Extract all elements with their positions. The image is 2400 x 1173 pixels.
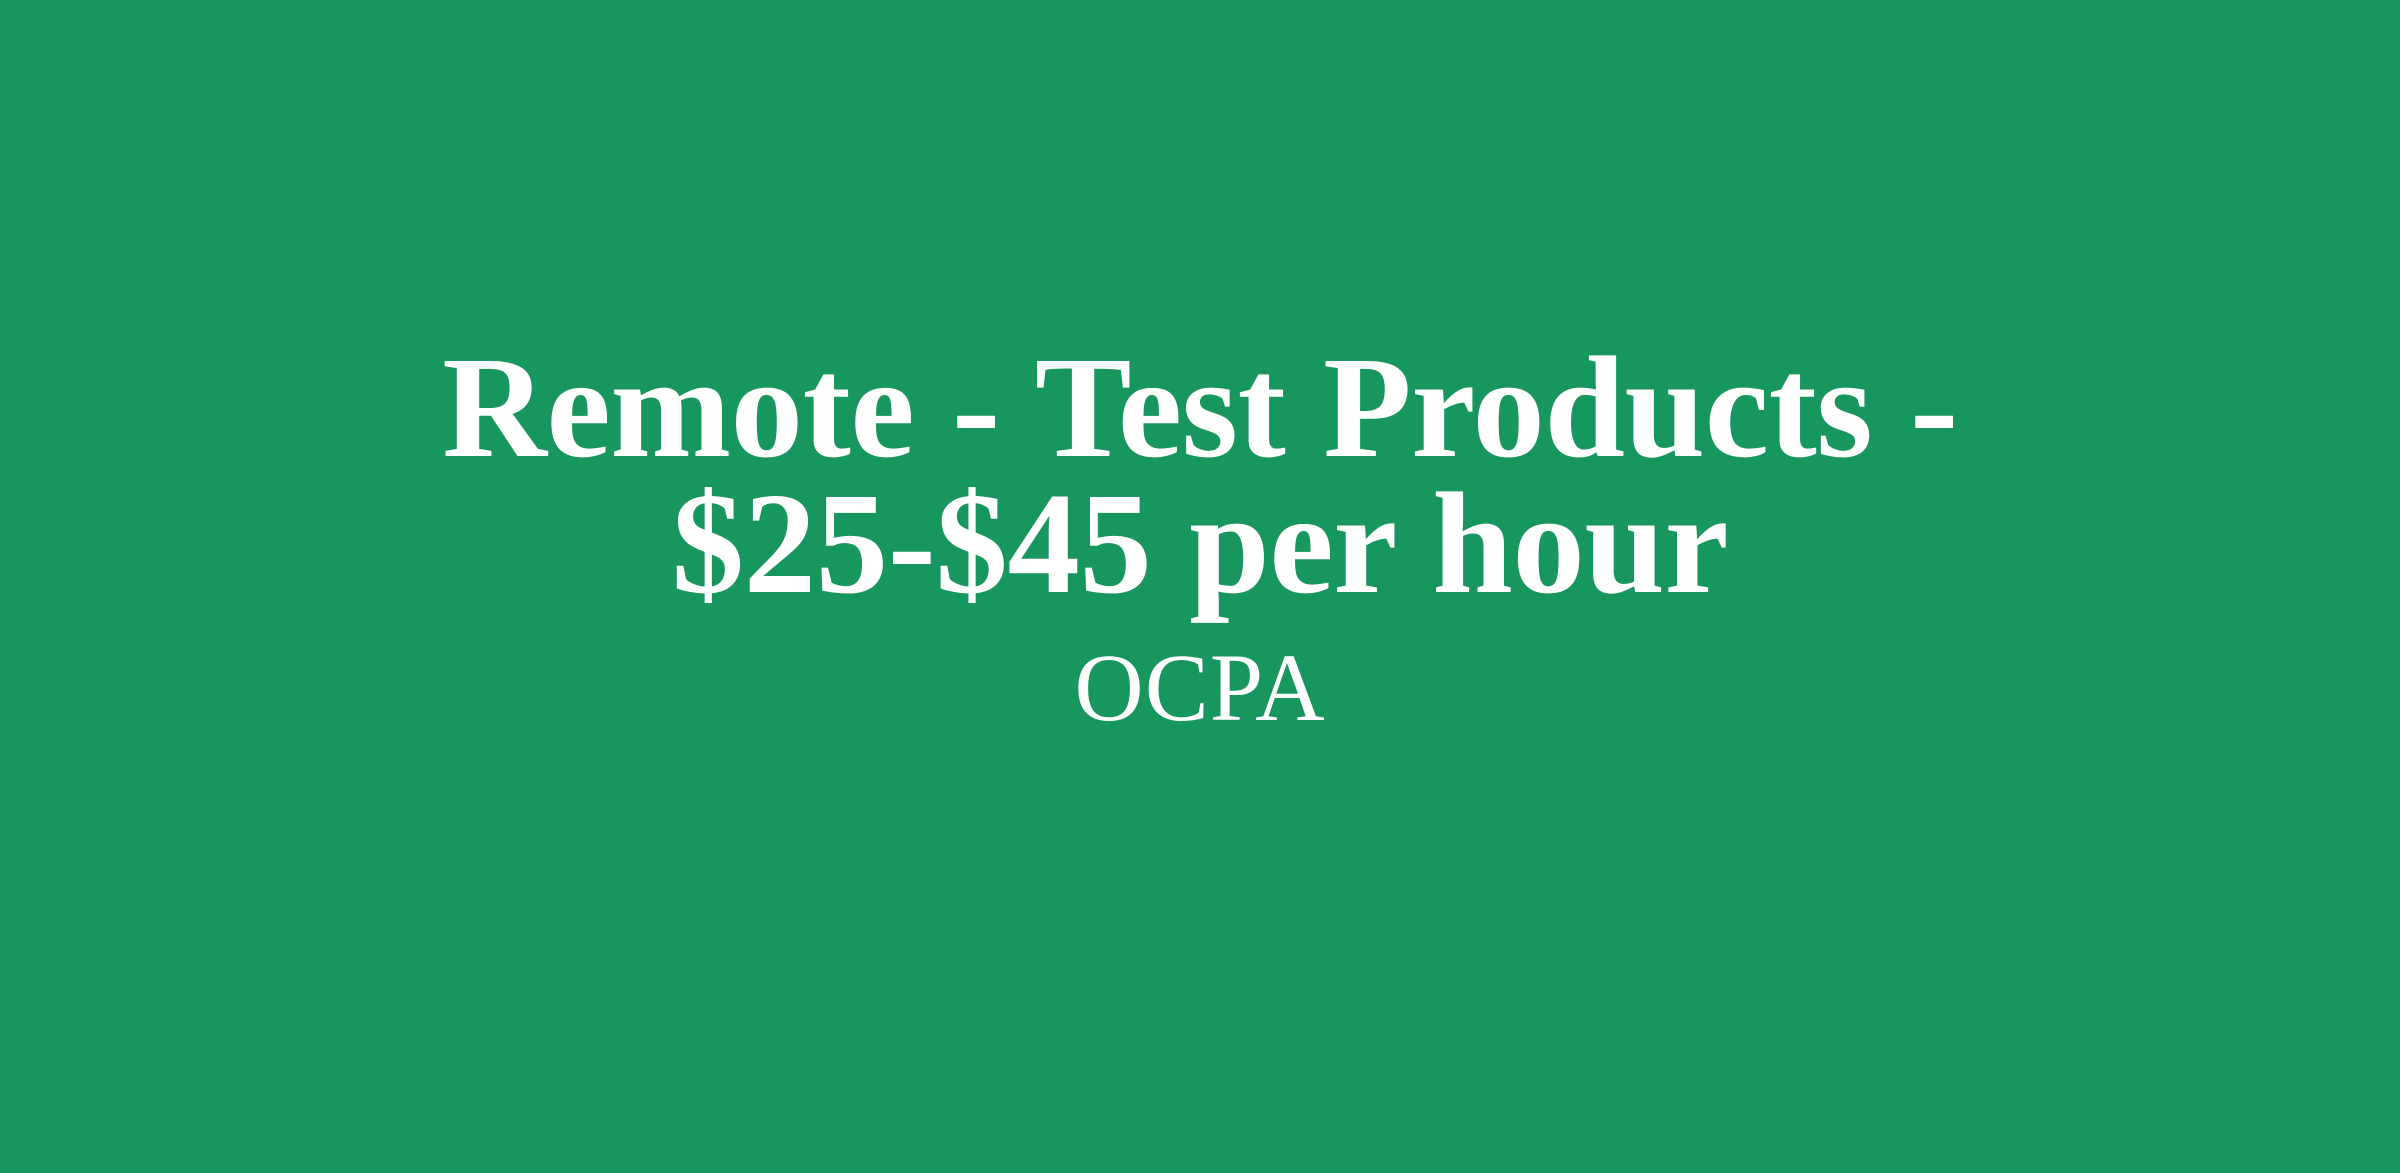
banner-content: Remote - Test Products - $25-$45 per hou… bbox=[360, 340, 2040, 738]
banner-subtitle: OCPA bbox=[360, 638, 2040, 738]
banner-title: Remote - Test Products - $25-$45 per hou… bbox=[360, 340, 2040, 612]
promo-banner: Remote - Test Products - $25-$45 per hou… bbox=[0, 0, 2400, 1173]
